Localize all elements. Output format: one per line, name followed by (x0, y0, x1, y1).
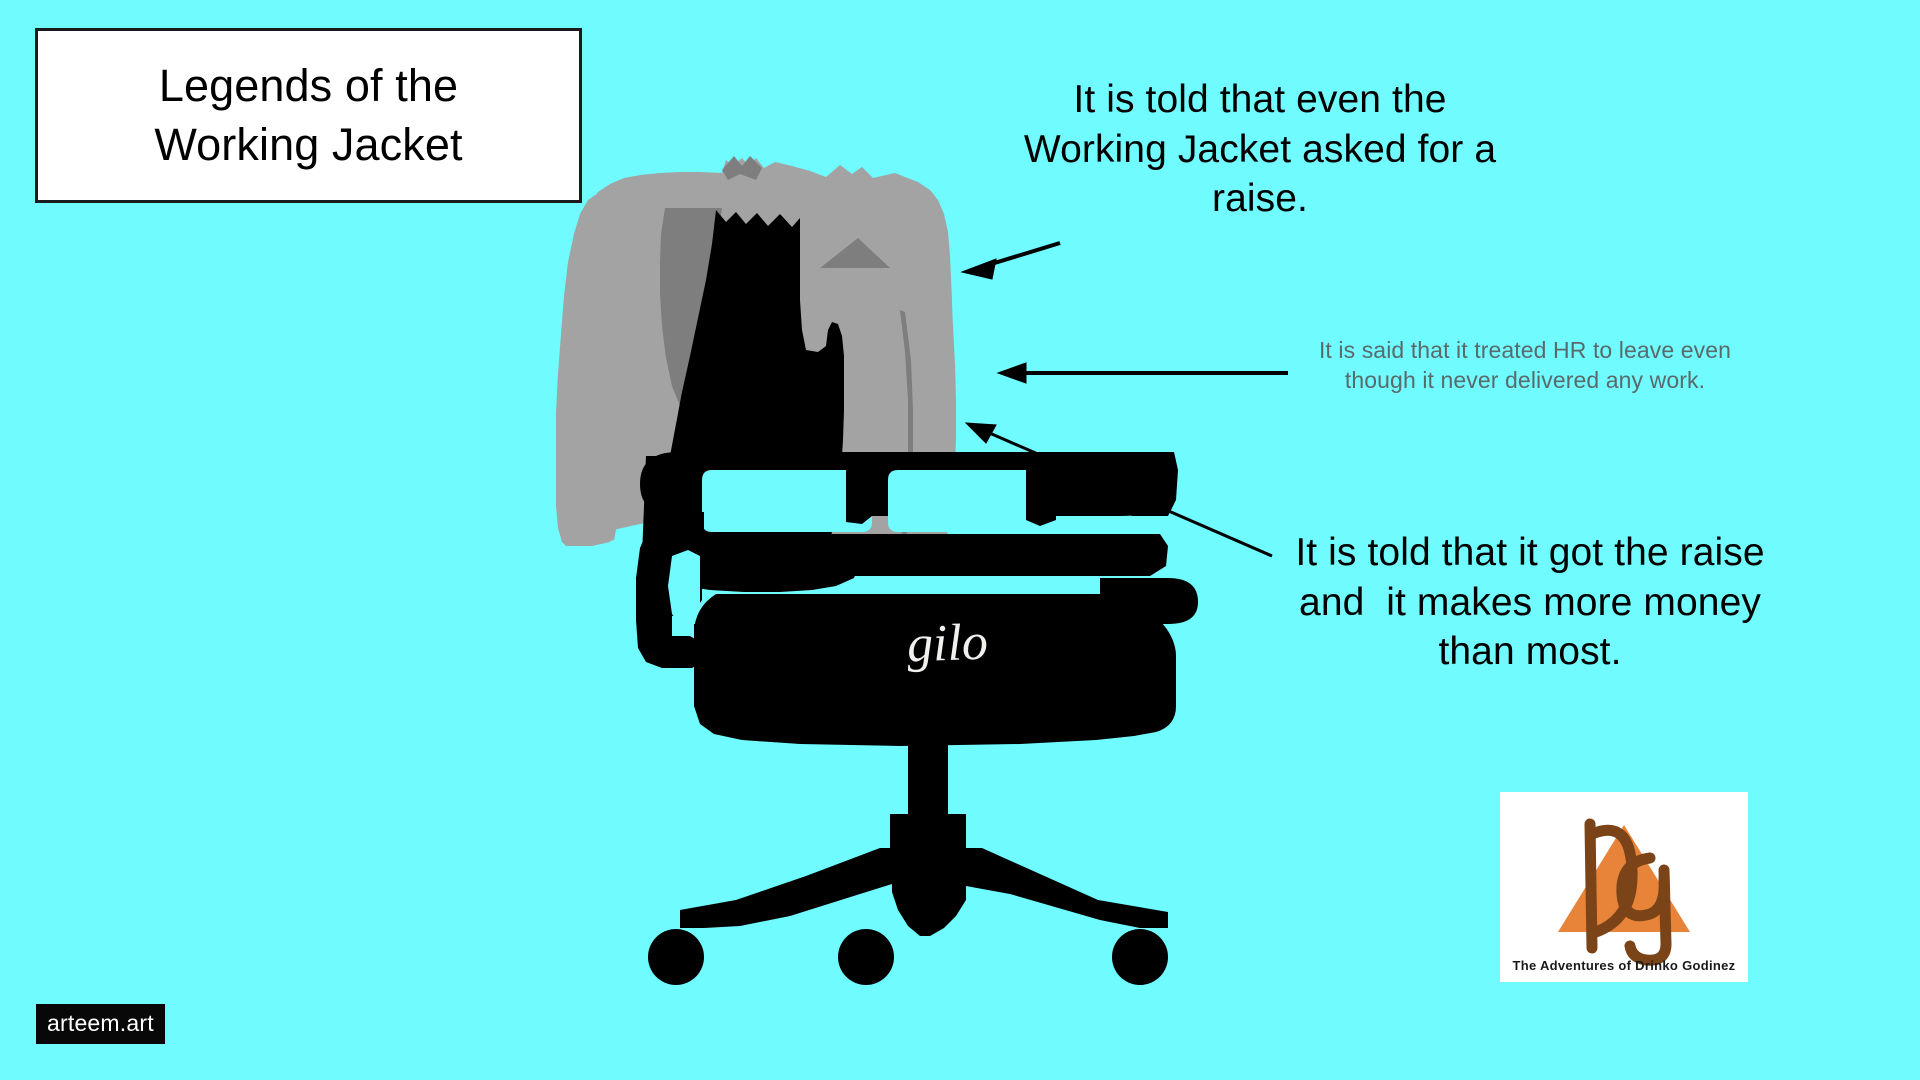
arrow-side-head (998, 363, 1026, 383)
chair-cylinder-collar (890, 814, 966, 872)
title-line-1: Legends of the (159, 57, 458, 116)
artboard: gilo Legends of the Working Jacket It is… (0, 0, 1920, 1080)
chair-left-armrest-cutout (668, 550, 700, 626)
chair-caster-left (648, 929, 704, 985)
chair-mesh-bar-2 (1026, 470, 1056, 526)
caption-middle-right-gray: It is said that it treated HR to leave e… (1310, 335, 1740, 395)
arrow-hem-head (966, 423, 996, 443)
caption-top-right: It is told that even the Working Jacket … (1000, 75, 1520, 224)
jacket-right-sleeve (882, 180, 956, 544)
jacket-collar-notch (722, 156, 762, 180)
chair-back-cantilever (1080, 452, 1178, 516)
chair-caster-right (1112, 929, 1168, 985)
jacket-left-lapel (660, 208, 722, 414)
logo-svg: The Adventures of Drinko Godinez (1500, 792, 1748, 982)
title-line-2: Working Jacket (154, 116, 462, 175)
jacket-left-cuff (556, 476, 614, 546)
jacket-right-seam (900, 310, 913, 540)
jacket-left-sleeve (556, 192, 634, 544)
arrow-shoulder-head (962, 259, 996, 279)
caption-bottom-right: It is told that it got the raise and it … (1270, 528, 1790, 677)
chair-seat (694, 594, 1176, 746)
chair-right-armrest (1100, 578, 1198, 624)
jacket-shirt-tail (660, 520, 860, 592)
jacket-shirt-front (664, 210, 844, 578)
title-box: Legends of the Working Jacket (35, 28, 582, 203)
slide-canvas: gilo Legends of the Working Jacket It is… (0, 0, 1920, 1080)
arrow-shoulder-shaft (978, 243, 1060, 268)
chair-base-star (680, 848, 1168, 936)
arrows-group (962, 243, 1288, 556)
watermark-arteem: arteem.art (36, 1004, 165, 1044)
jacket-group (556, 156, 956, 592)
chair-gas-cylinder (908, 740, 948, 816)
chair-mesh-bar-1 (846, 470, 872, 524)
logo-caption: The Adventures of Drinko Godinez (1513, 958, 1736, 973)
chair-backrest-lower-rail (668, 534, 1168, 576)
chair-mesh-opening-1 (702, 470, 872, 532)
chair-mesh-opening-2 (888, 470, 1056, 532)
chair-backrest-frame-left (642, 456, 702, 616)
chair-brand-label: gilo (906, 614, 989, 674)
chair-caster-center (838, 929, 894, 985)
chair-left-armrest (636, 512, 704, 668)
logo-card: The Adventures of Drinko Godinez (1500, 792, 1748, 982)
arrow-hem-shaft (978, 428, 1272, 556)
jacket-body-shape (575, 158, 955, 546)
chair-seat-front-lip (694, 624, 756, 712)
jacket-pocket-square (820, 238, 890, 268)
chair-group (636, 452, 1198, 985)
chair-backrest-top (640, 452, 1176, 516)
